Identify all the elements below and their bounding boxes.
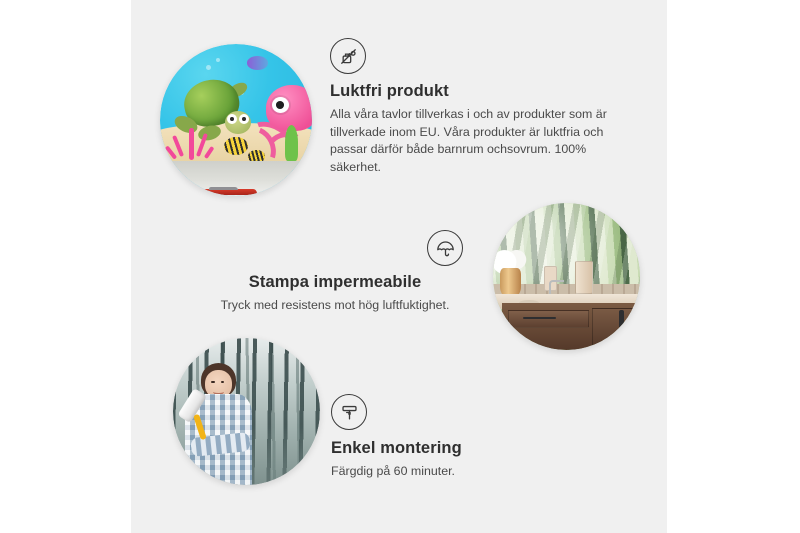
product-image-woman bbox=[173, 338, 320, 485]
octopus-eye bbox=[272, 97, 290, 113]
turtle-eye bbox=[239, 114, 249, 124]
coral-branch bbox=[204, 146, 215, 159]
eye bbox=[221, 381, 225, 383]
feature-title: Stampa impermeabile bbox=[200, 273, 470, 292]
purple-fish-icon bbox=[247, 56, 268, 70]
coral bbox=[169, 120, 215, 160]
feature-waterproof: Stampa impermeabile Tryck med resistens … bbox=[200, 230, 470, 315]
octopus-body bbox=[266, 85, 312, 131]
red-car bbox=[203, 189, 258, 195]
feature-odourless: Luktfri produkt Alla våra tavlor tillver… bbox=[330, 38, 630, 176]
secondary-photo-strip bbox=[160, 161, 312, 196]
drawer-handle bbox=[523, 317, 556, 319]
turtle-eye bbox=[227, 114, 237, 124]
coral-branch bbox=[189, 128, 194, 160]
no-smell-spray-icon bbox=[330, 38, 366, 74]
product-image-sea bbox=[160, 44, 312, 196]
door-handle bbox=[619, 310, 624, 329]
feature-description: Tryck med resistens mot hög luftfuktighe… bbox=[200, 297, 470, 315]
promo-graphic: Luktfri produkt Alla våra tavlor tillver… bbox=[0, 0, 800, 533]
cabinet-drawer bbox=[508, 310, 589, 328]
faucet bbox=[549, 280, 564, 294]
feature-assembly: Enkel montering Färgdig på 60 minuter. bbox=[331, 394, 591, 481]
cabinet-door bbox=[592, 308, 640, 348]
paint-roller-icon bbox=[331, 394, 367, 430]
feature-icon-row bbox=[200, 230, 470, 266]
umbrella-icon bbox=[427, 230, 463, 266]
yellow-fish-icon bbox=[224, 137, 248, 155]
feature-description: Alla våra tavlor tillverkas i och av pro… bbox=[330, 106, 630, 176]
vase bbox=[500, 268, 521, 297]
red-car bbox=[269, 190, 302, 195]
feature-title: Luktfri produkt bbox=[330, 82, 630, 101]
seaweed bbox=[285, 125, 299, 161]
feature-description: Färgdig på 60 minuter. bbox=[331, 463, 591, 481]
product-image-bathroom bbox=[493, 203, 640, 350]
bottle bbox=[575, 261, 593, 294]
bubble-icon bbox=[206, 65, 211, 70]
feature-title: Enkel montering bbox=[331, 439, 591, 458]
bubble-icon bbox=[216, 58, 220, 62]
eye bbox=[211, 381, 215, 383]
vanity-cabinet bbox=[502, 303, 640, 350]
